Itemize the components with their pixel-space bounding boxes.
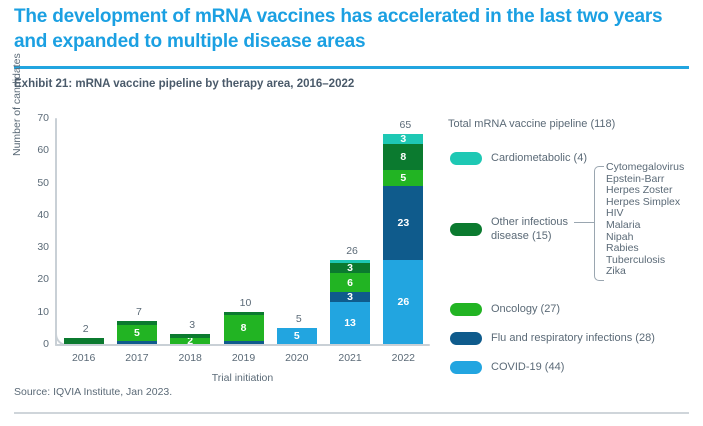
y-axis-title: Number of candidates [11,53,23,156]
x-axis-line [55,344,430,346]
bar-group[interactable]: 5 [277,328,317,344]
legend-item[interactable]: Flu and respiratory infections (28) [450,332,655,345]
legend-item[interactable]: COVID-19 (44) [450,361,564,374]
footer-divider [14,412,689,414]
legend-swatch [450,361,482,374]
bar-group[interactable] [64,338,104,344]
x-tick-label: 2017 [107,352,167,364]
legend-swatch [450,223,482,236]
legend-item[interactable]: Cardiometabolic (4) [450,152,587,165]
disease-list-item: Cytomegalovirus [606,162,684,174]
bar-total-label: 26 [322,245,382,257]
bar-total-label: 2 [56,323,116,335]
chart-legend: Total mRNA vaccine pipeline (118) Cardio… [448,118,698,358]
legend-label: Oncology (27) [491,303,560,316]
legend-label: COVID-19 (44) [491,361,564,374]
y-tick-label: 50 [37,177,49,189]
bar-segment[interactable]: 5 [383,170,423,186]
y-tick-label: 10 [37,306,49,318]
title-divider [14,66,689,69]
bar-group[interactable]: 8 [224,312,264,344]
bar-total-label: 10 [216,297,276,309]
legend-swatch [450,332,482,345]
bar-segment[interactable]: 26 [383,260,423,344]
bar-segment[interactable]: 5 [117,325,157,341]
bar-total-label: 3 [162,319,222,331]
bar-segment[interactable]: 8 [224,315,264,341]
legend-item[interactable]: Oncology (27) [450,303,560,316]
bar-group[interactable]: 2 [170,334,210,344]
y-tick-label: 40 [37,209,49,221]
disease-list: CytomegalovirusEpstein-BarrHerpes Zoster… [606,162,684,278]
legend-heading: Total mRNA vaccine pipeline (118) [448,118,615,130]
y-tick-label: 70 [37,112,49,124]
x-tick-label: 2021 [320,352,380,364]
x-tick-label: 2019 [214,352,274,364]
source-note: Source: IQVIA Institute, Jan 2023. [14,386,172,398]
disease-list-item: Rabies [606,243,684,255]
bar-segment[interactable] [224,341,264,344]
chart-plot-area: Number of candidates 010203040506070 257… [55,118,430,346]
bar-total-label: 65 [375,119,435,131]
bar-segment[interactable]: 3 [330,292,370,302]
y-tick-label: 0 [43,338,49,350]
x-tick-label: 2022 [373,352,433,364]
exhibit-page: The development of mRNA vaccines has acc… [0,0,703,426]
bar-segment[interactable]: 8 [383,144,423,170]
legend-label: Flu and respiratory infections (28) [491,332,655,345]
x-tick-label: 2018 [160,352,220,364]
disease-bracket [594,166,604,281]
bar-segment[interactable]: 13 [330,302,370,344]
bar-segment[interactable]: 5 [277,328,317,344]
legend-swatch [450,303,482,316]
bar-segment[interactable]: 3 [330,263,370,273]
legend-label: Other infectiousdisease (15) [491,216,568,243]
exhibit-caption: Exhibit 21: mRNA vaccine pipeline by the… [14,78,354,90]
disease-bracket-stem [574,222,594,223]
bar-group[interactable]: 2623583 [383,134,423,344]
y-tick-label: 20 [37,273,49,285]
legend-label: Cardiometabolic (4) [491,152,587,165]
bar-series-container: 25723810551336326262358365 [57,118,430,344]
bar-group[interactable]: 5 [117,321,157,344]
x-axis-title: Trial initiation [55,372,430,384]
legend-swatch [450,152,482,165]
disease-list-item: Zika [606,266,684,278]
bar-total-label: 5 [269,313,329,325]
bar-segment[interactable] [64,338,104,344]
y-tick-label: 30 [37,241,49,253]
x-tick-label: 2020 [267,352,327,364]
x-tick-label: 2016 [54,352,114,364]
disease-list-item: Malaria [606,220,684,232]
bar-segment[interactable]: 6 [330,273,370,292]
bar-segment[interactable] [117,341,157,344]
legend-item[interactable]: Other infectiousdisease (15) [450,216,568,243]
y-tick-label: 60 [37,144,49,156]
page-title: The development of mRNA vaccines has acc… [14,4,690,54]
bar-group[interactable]: 13363 [330,260,370,344]
bar-segment[interactable]: 23 [383,186,423,260]
bar-segment[interactable]: 3 [383,134,423,144]
bar-segment[interactable]: 2 [170,338,210,344]
bar-total-label: 7 [109,306,169,318]
